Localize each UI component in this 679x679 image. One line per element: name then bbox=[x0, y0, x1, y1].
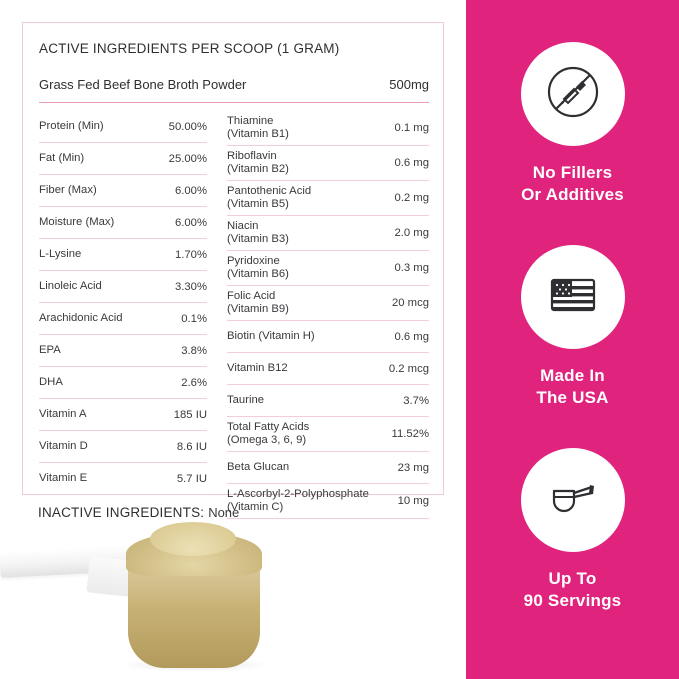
table-row: EPA3.8% bbox=[39, 335, 207, 367]
ingredient-name: Vitamin B12 bbox=[227, 358, 288, 379]
ingredient-value: 2.0 mg bbox=[388, 227, 429, 239]
ingredient-name: Arachidonic Acid bbox=[39, 308, 123, 329]
ingredient-value: 3.8% bbox=[175, 345, 207, 357]
ingredient-name-main: Folic Acid bbox=[227, 290, 275, 302]
ingredient-value: 0.6 mg bbox=[388, 157, 429, 169]
ingredient-name-sub: (Vitamin B1) bbox=[227, 128, 289, 141]
ingredient-value: 25.00% bbox=[163, 153, 207, 165]
feature-label-line1: Up To bbox=[466, 568, 679, 590]
ingredient-name: L-Ascorbyl-2-Polyphosphate(Vitamin C) bbox=[227, 484, 369, 518]
ingredient-name: Niacin(Vitamin B3) bbox=[227, 216, 289, 250]
feature-label-line2: 90 Servings bbox=[466, 590, 679, 612]
ingredient-value: 8.6 IU bbox=[171, 441, 207, 453]
usa-flag-icon bbox=[544, 266, 602, 329]
scoop-icon bbox=[544, 469, 602, 532]
no-additives-icon bbox=[544, 63, 602, 126]
ingredient-column-right: Thiamine(Vitamin B1)0.1 mg Riboflavin(Vi… bbox=[217, 111, 429, 519]
table-row: Niacin(Vitamin B3)2.0 mg bbox=[227, 216, 429, 251]
table-row: Fat (Min)25.00% bbox=[39, 143, 207, 175]
ingredient-name: DHA bbox=[39, 372, 63, 393]
card-title: ACTIVE INGREDIENTS PER SCOOP (1 GRAM) bbox=[39, 41, 339, 56]
ingredient-value: 0.1 mg bbox=[388, 122, 429, 134]
table-row: Linoleic Acid3.30% bbox=[39, 271, 207, 303]
ingredient-column-left: Protein (Min)50.00% Fat (Min)25.00% Fibe… bbox=[39, 111, 217, 519]
table-row: Folic Acid(Vitamin B9)20 mcg bbox=[227, 286, 429, 321]
ingredient-name: Fiber (Max) bbox=[39, 180, 97, 201]
ingredient-name: Linoleic Acid bbox=[39, 276, 102, 297]
ingredient-name: Thiamine(Vitamin B1) bbox=[227, 111, 289, 145]
feature-label: No Fillers Or Additives bbox=[466, 162, 679, 206]
ingredient-value: 50.00% bbox=[163, 121, 207, 133]
ingredient-name-main: Biotin (Vitamin H) bbox=[227, 330, 315, 342]
ingredient-name: Vitamin E bbox=[39, 468, 87, 489]
inactive-ingredients: INACTIVE INGREDIENTS: None bbox=[38, 505, 239, 520]
ingredient-name-main: Niacin bbox=[227, 220, 258, 232]
ingredient-name-main: L-Ascorbyl-2-Polyphosphate bbox=[227, 488, 369, 500]
ingredient-name-main: Vitamin B12 bbox=[227, 362, 288, 374]
ingredient-value: 10 mg bbox=[392, 495, 429, 507]
ingredient-name-sub: (Vitamin B6) bbox=[227, 268, 289, 281]
ingredient-name: Taurine bbox=[227, 390, 264, 411]
ingredient-name: Riboflavin(Vitamin B2) bbox=[227, 146, 289, 180]
feature-icon-circle bbox=[521, 245, 625, 349]
ingredient-name: Pantothenic Acid(Vitamin B5) bbox=[227, 181, 311, 215]
table-row: Vitamin A185 IU bbox=[39, 399, 207, 431]
ingredient-value: 1.70% bbox=[169, 249, 207, 261]
product-scoop-image bbox=[0, 520, 466, 679]
ingredient-columns: Protein (Min)50.00% Fat (Min)25.00% Fibe… bbox=[39, 111, 429, 519]
headline-ingredient-value: 500mg bbox=[389, 77, 429, 92]
ingredient-name-main: Pantothenic Acid bbox=[227, 185, 311, 197]
ingredient-name-sub: (Vitamin C) bbox=[227, 501, 369, 514]
table-row: Beta Glucan23 mg bbox=[227, 452, 429, 484]
feature-no-fillers: No Fillers Or Additives bbox=[466, 42, 679, 206]
inactive-ingredients-value: None bbox=[208, 505, 239, 520]
table-row: Taurine3.7% bbox=[227, 385, 429, 417]
table-row: L-Ascorbyl-2-Polyphosphate(Vitamin C)10 … bbox=[227, 484, 429, 519]
ingredient-name: Fat (Min) bbox=[39, 148, 84, 169]
ingredient-name-main: Riboflavin bbox=[227, 150, 277, 162]
ingredient-name-sub: (Omega 3, 6, 9) bbox=[227, 434, 309, 447]
ingredient-value: 0.1% bbox=[175, 313, 207, 325]
ingredients-panel: ACTIVE INGREDIENTS PER SCOOP (1 GRAM) Gr… bbox=[0, 0, 466, 679]
ingredient-name: Vitamin D bbox=[39, 436, 88, 457]
table-row: Vitamin B120.2 mcg bbox=[227, 353, 429, 385]
table-row: DHA2.6% bbox=[39, 367, 207, 399]
ingredient-value: 3.7% bbox=[397, 395, 429, 407]
table-row: Moisture (Max)6.00% bbox=[39, 207, 207, 239]
feature-label-line1: No Fillers bbox=[466, 162, 679, 184]
ingredient-value: 20 mcg bbox=[386, 297, 429, 309]
feature-made-in-usa: Made In The USA bbox=[466, 245, 679, 409]
ingredient-value: 2.6% bbox=[175, 377, 207, 389]
ingredient-name-main: Taurine bbox=[227, 394, 264, 406]
ingredient-name-sub: (Vitamin B2) bbox=[227, 163, 289, 176]
ingredient-name: L-Lysine bbox=[39, 244, 81, 265]
ingredient-name-main: Beta Glucan bbox=[227, 461, 289, 473]
inactive-ingredients-label: INACTIVE INGREDIENTS: bbox=[38, 505, 204, 520]
ingredient-value: 6.00% bbox=[169, 185, 207, 197]
features-panel: No Fillers Or Additives bbox=[466, 0, 679, 679]
table-row: Thiamine(Vitamin B1)0.1 mg bbox=[227, 111, 429, 146]
feature-label-line1: Made In bbox=[466, 365, 679, 387]
table-row: Vitamin D8.6 IU bbox=[39, 431, 207, 463]
table-row: Protein (Min)50.00% bbox=[39, 111, 207, 143]
table-row: Biotin (Vitamin H)0.6 mg bbox=[227, 321, 429, 353]
ingredient-name: Biotin (Vitamin H) bbox=[227, 326, 315, 347]
headline-ingredient-row: Grass Fed Beef Bone Broth Powder 500mg bbox=[39, 75, 429, 103]
product-infographic: ACTIVE INGREDIENTS PER SCOOP (1 GRAM) Gr… bbox=[0, 0, 679, 679]
ingredient-value: 3.30% bbox=[169, 281, 207, 293]
table-row: Arachidonic Acid0.1% bbox=[39, 303, 207, 335]
table-row: L-Lysine1.70% bbox=[39, 239, 207, 271]
ingredient-value: 0.3 mg bbox=[388, 262, 429, 274]
ingredient-value: 0.2 mg bbox=[388, 192, 429, 204]
table-row: Pantothenic Acid(Vitamin B5)0.2 mg bbox=[227, 181, 429, 216]
ingredient-value: 0.2 mcg bbox=[383, 363, 429, 375]
ingredient-name: Folic Acid(Vitamin B9) bbox=[227, 286, 289, 320]
table-row: Fiber (Max)6.00% bbox=[39, 175, 207, 207]
ingredient-name-sub: (Vitamin B3) bbox=[227, 233, 289, 246]
ingredient-name-sub: (Vitamin B5) bbox=[227, 198, 311, 211]
ingredient-name: Protein (Min) bbox=[39, 116, 104, 137]
feature-label-line2: Or Additives bbox=[466, 184, 679, 206]
ingredient-name: EPA bbox=[39, 340, 61, 361]
ingredient-value: 11.52% bbox=[386, 428, 429, 440]
ingredient-name: Vitamin A bbox=[39, 404, 87, 425]
table-row: Pyridoxine(Vitamin B6)0.3 mg bbox=[227, 251, 429, 286]
ingredient-value: 23 mg bbox=[392, 462, 429, 474]
ingredient-name: Total Fatty Acids(Omega 3, 6, 9) bbox=[227, 417, 309, 451]
ingredient-value: 0.6 mg bbox=[388, 331, 429, 343]
feature-servings: Up To 90 Servings bbox=[466, 448, 679, 612]
table-row: Vitamin E5.7 IU bbox=[39, 463, 207, 495]
ingredient-name-main: Pyridoxine bbox=[227, 255, 280, 267]
feature-label-line2: The USA bbox=[466, 387, 679, 409]
feature-label: Made In The USA bbox=[466, 365, 679, 409]
ingredient-name: Beta Glucan bbox=[227, 457, 289, 478]
ingredient-value: 6.00% bbox=[169, 217, 207, 229]
ingredient-name-sub: (Vitamin B9) bbox=[227, 303, 289, 316]
ingredient-name-main: Thiamine bbox=[227, 115, 273, 127]
table-row: Riboflavin(Vitamin B2)0.6 mg bbox=[227, 146, 429, 181]
scoop-powder-mound bbox=[150, 522, 236, 556]
ingredient-name: Pyridoxine(Vitamin B6) bbox=[227, 251, 289, 285]
ingredient-name: Moisture (Max) bbox=[39, 212, 114, 233]
feature-icon-circle bbox=[521, 42, 625, 146]
ingredient-name-main: Total Fatty Acids bbox=[227, 421, 309, 433]
table-row: Total Fatty Acids(Omega 3, 6, 9)11.52% bbox=[227, 417, 429, 452]
feature-icon-circle bbox=[521, 448, 625, 552]
ingredient-value: 185 IU bbox=[168, 409, 207, 421]
headline-ingredient-name: Grass Fed Beef Bone Broth Powder bbox=[39, 77, 246, 92]
feature-label: Up To 90 Servings bbox=[466, 568, 679, 612]
ingredient-value: 5.7 IU bbox=[171, 473, 207, 485]
active-ingredients-card: ACTIVE INGREDIENTS PER SCOOP (1 GRAM) Gr… bbox=[22, 22, 444, 495]
